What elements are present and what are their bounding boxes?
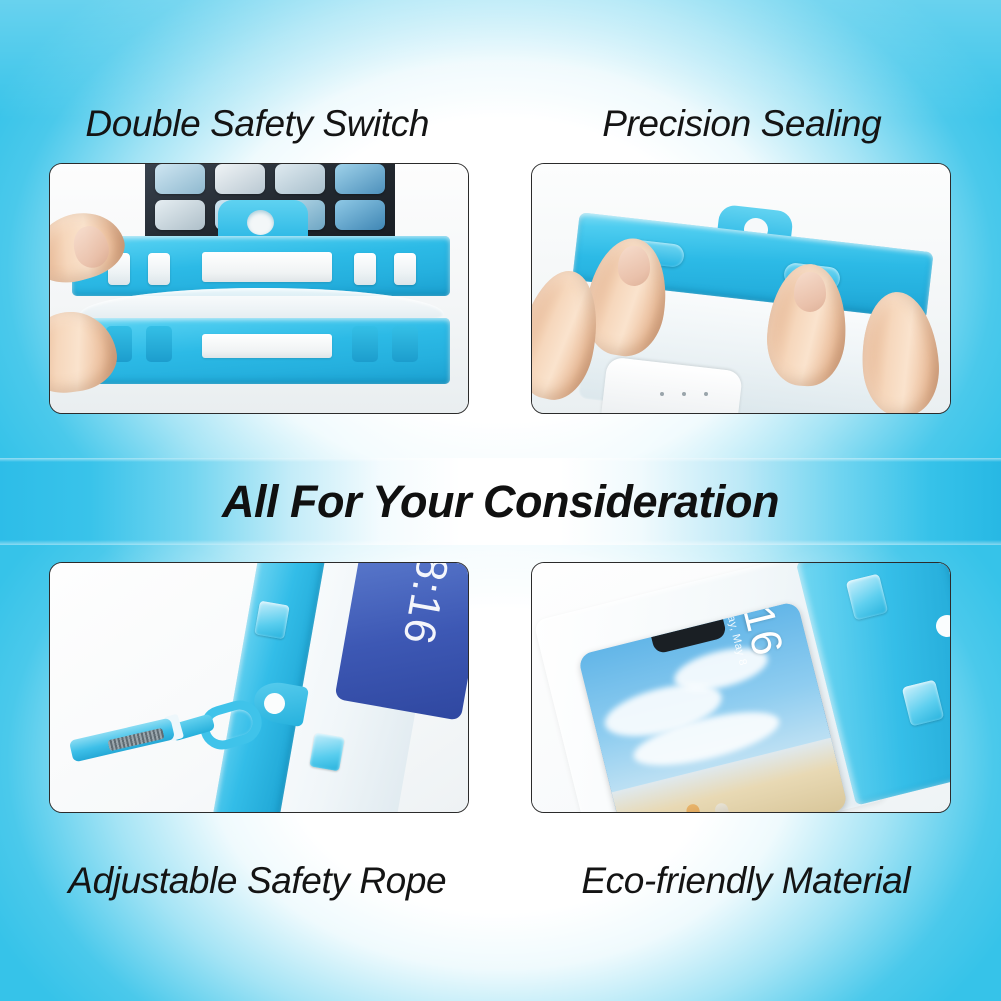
app-icon [275,164,325,194]
lock-tab [394,253,416,285]
label-cell-top-left: Double Safety Switch [0,105,501,142]
seal-nub [392,326,418,362]
label-cell-bottom-left: Adjustable Safety Rope [0,862,501,899]
lock-tab [354,253,376,285]
app-icon [155,200,205,230]
feature-photo-panel-double-safety-switch [49,163,469,414]
clamp-hook-hole [247,210,274,235]
feature-label-double-safety-switch: Double Safety Switch [85,105,429,142]
banner-title: All For Your Consideration [222,479,779,524]
label-cell-top-right: Precision Sealing [501,105,1001,142]
fingernail [794,272,826,312]
feature-label-precision-sealing: Precision Sealing [602,105,881,142]
clamp-upper-jaw [72,236,450,296]
fingernail [618,246,650,286]
app-icon [155,164,205,194]
photo-eco-friendly-material: 8:16 Friday, May 8 [532,563,950,812]
feature-photo-panel-eco-friendly-material: 8:16 Friday, May 8 [531,562,951,813]
photo-double-safety-switch [50,164,468,413]
lock-tab [148,253,170,285]
seal-strip [202,252,332,282]
feature-label-adjustable-safety-rope: Adjustable Safety Rope [68,862,446,899]
lock-tab [254,601,289,640]
feature-photo-panel-precision-sealing [531,163,951,414]
center-banner: All For Your Consideration [0,458,1001,545]
top-label-row: Double Safety Switch Precision Sealing [0,105,1001,142]
app-icon [335,200,385,230]
feature-label-eco-friendly-material: Eco-friendly Material [581,862,910,899]
app-icon [335,164,385,194]
app-icon [215,164,265,194]
photo-precision-sealing [532,164,950,413]
lock-tab [309,733,344,772]
feature-photo-panel-adjustable-safety-rope: 8:16 [49,562,469,813]
photo-adjustable-safety-rope: 8:16 [50,563,468,812]
infographic-page: Double Safety Switch Precision Sealing [0,0,1001,1001]
clamp-lower-jaw [72,318,450,384]
label-cell-bottom-right: Eco-friendly Material [501,862,1001,899]
bottom-label-row: Adjustable Safety Rope Eco-friendly Mate… [0,862,1001,899]
seal-nub [352,326,378,362]
seal-strip [202,334,332,358]
seal-nub [146,326,172,362]
